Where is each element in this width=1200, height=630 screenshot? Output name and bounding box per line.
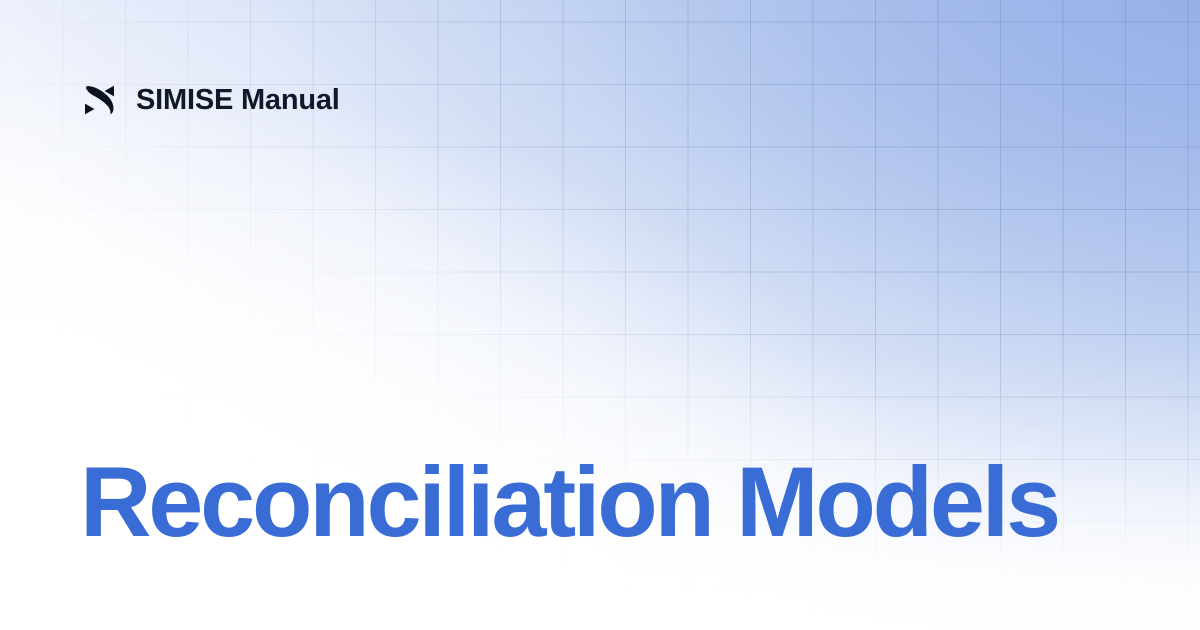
brand-name: SIMISE Manual [136, 86, 340, 115]
page-title: Reconciliation Models [80, 452, 1120, 553]
card-content: SIMISE Manual Reconciliation Models [0, 0, 1200, 630]
brand-lockup: SIMISE Manual [80, 78, 340, 122]
simise-s-mark-icon [80, 80, 120, 120]
og-card: SIMISE Manual Reconciliation Models [0, 0, 1200, 630]
